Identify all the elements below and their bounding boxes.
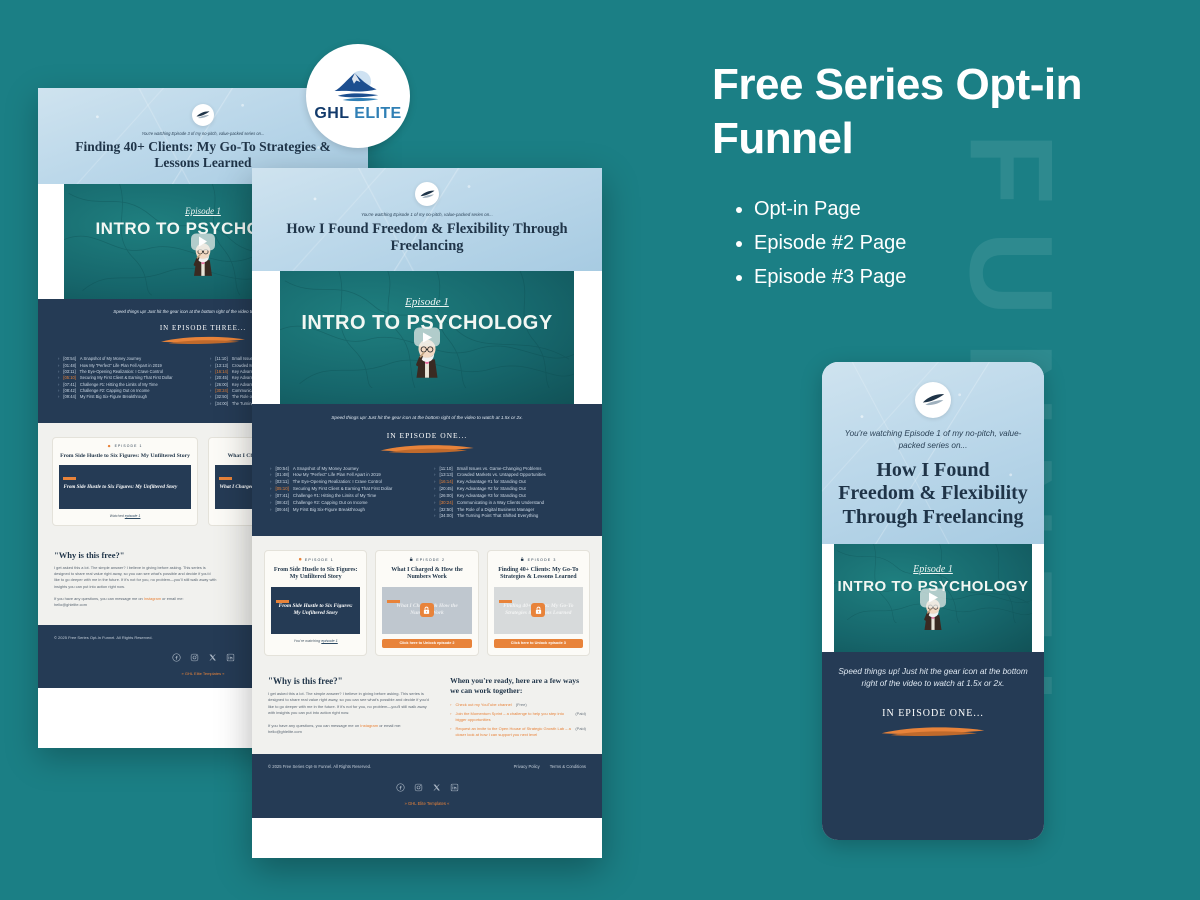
unlock-episode-button[interactable]: Click here to Unlock episode 2 <box>382 639 471 648</box>
front-cards-row: EPISODE 1From Side Hustle to Six Figures… <box>264 550 590 656</box>
chapter-label: Key Advantage #2 for Standing Out <box>457 486 526 493</box>
chevron-right-icon: › <box>450 726 451 738</box>
front-video-player[interactable]: Episode 1 INTRO TO PSYCHOLOGY <box>280 271 574 404</box>
linkedin-icon[interactable] <box>450 779 459 797</box>
phone-headline: How I Found Freedom & Flexibility Throug… <box>838 459 1028 530</box>
chevron-right-icon: › <box>434 472 435 479</box>
front-footer: © 2025 Free Series Opt-In Funnel. All Ri… <box>252 754 602 818</box>
phone-play-button[interactable] <box>920 588 946 607</box>
episode-badge: EPISODE 1 <box>59 444 192 449</box>
front-in-episode: IN EPISODE ONE... <box>270 431 584 440</box>
episode-badge-label: EPISODE 2 <box>416 558 445 562</box>
thumbnail-tag <box>276 600 289 603</box>
episode-card-thumbnail[interactable]: From Side Hustle to Six Figures: My Unfi… <box>271 587 360 634</box>
lock-icon <box>422 606 431 615</box>
chapter-timestamp: [34:00] <box>215 401 228 407</box>
episode-card-title: Finding 40+ Clients: My Go-To Strategies… <box>494 567 583 582</box>
front-cards-band: EPISODE 1From Side Hustle to Six Figures… <box>252 536 602 672</box>
front-chapter-item[interactable]: ›[03:11]The Eye-Opening Realization: I C… <box>270 479 420 486</box>
watch-status: Watched episode 1 <box>59 514 192 518</box>
chapter-timestamp: [09:44] <box>275 507 288 514</box>
front-chapter-item[interactable]: ›[30:24]Communicating in a Way Clients U… <box>434 500 584 507</box>
funnel-page-item-2: Episode #2 Page <box>754 227 1132 261</box>
chapter-label: How My "Perfect" Life Plan Fell Apart in… <box>293 472 381 479</box>
episode-badge-label: EPISODE 3 <box>528 558 557 562</box>
front-chapter-item[interactable]: ›[20:45]Key Advantage #2 for Standing Ou… <box>434 486 584 493</box>
chapter-timestamp: [05:10] <box>275 486 288 493</box>
chevron-right-icon: › <box>270 493 271 500</box>
swoosh-bird-icon <box>420 189 435 200</box>
front-why-body: I get asked this a lot. The simple answe… <box>268 691 434 717</box>
thumbnail-title: From Side Hustle to Six Figures: My Unfi… <box>63 484 177 491</box>
phone-video-player[interactable]: Episode 1 INTRO TO PSYCHOLOGY <box>834 544 1032 652</box>
watch-status-text: Watched <box>110 514 125 518</box>
episode-card-thumbnail[interactable]: What I Charged & How the Numbers Work <box>382 587 471 634</box>
chapter-label: Crowded Markets vs. Untapped Opportuniti… <box>457 472 546 479</box>
facebook-icon[interactable] <box>396 779 405 797</box>
phone-hero: You're watching Episode 1 of my no-pitch… <box>822 362 1044 544</box>
episode-badge-label: EPISODE 1 <box>305 558 334 562</box>
front-brand-avatar <box>415 182 439 206</box>
chapter-label: A Snapshot of My Money Journey <box>293 466 359 473</box>
back-headline: Finding 40+ Clients: My Go-To Strategies… <box>58 139 348 170</box>
watch-status-link[interactable]: episode 1 <box>125 514 141 518</box>
right-info-panel: Free Series Opt-in Funnel Opt-in PageEpi… <box>712 58 1132 294</box>
episode-badge: EPISODE 2 <box>382 557 471 562</box>
work-together-item[interactable]: ›Join the Momentum Sprint – a challenge … <box>450 711 586 723</box>
chapter-timestamp: [00:54] <box>275 466 288 473</box>
chevron-right-icon: › <box>270 479 271 486</box>
linkedin-icon[interactable] <box>226 649 235 667</box>
work-together-item[interactable]: ›Request an invite to the Open House of … <box>450 726 586 738</box>
chapter-timestamp: [03:11] <box>275 479 288 486</box>
x-twitter-icon[interactable] <box>432 779 441 797</box>
front-chapter-item[interactable]: ›[01:48]How My "Perfect" Life Plan Fell … <box>270 472 420 479</box>
front-social-row <box>268 779 586 797</box>
unlock-episode-button[interactable]: Click here to Unlock episode 3 <box>494 639 583 648</box>
chapter-label: The Eye-Opening Realization: I Crave Con… <box>293 479 382 486</box>
back-why-heading: "Why is this free?" <box>54 550 217 560</box>
back-chapter-col-left: ›[00:54]A Snapshot of My Money Journey›[… <box>58 356 196 407</box>
chevron-right-icon: › <box>434 466 435 473</box>
work-together-label: Request an invite to the Open House of S… <box>455 726 571 738</box>
front-ready-list: ›Check out my YouTube channel (Free)›Joi… <box>450 702 586 738</box>
episode-card-title: From Side Hustle to Six Figures: My Unfi… <box>271 567 360 582</box>
front-why-heading: "Why is this free?" <box>268 676 434 686</box>
swoosh-divider-icon <box>375 443 479 453</box>
episode-card-title: From Side Hustle to Six Figures: My Unfi… <box>59 453 192 460</box>
instagram-link[interactable]: Instagram <box>360 723 378 728</box>
front-video-episode-label: Episode 1 <box>405 296 449 308</box>
chapter-label: Communicating in a Way Clients Understan… <box>457 500 544 507</box>
facebook-icon[interactable] <box>172 649 181 667</box>
chapter-timestamp: [07:41] <box>275 493 288 500</box>
chevron-right-icon: › <box>270 500 271 507</box>
front-chapter-col-right: ›[11:10]Small Issues vs. Game-Changing P… <box>434 466 584 521</box>
logo-wordmark: GHL ELITE <box>314 105 401 123</box>
chapter-label: Securing My First Client & Earning That … <box>293 486 392 493</box>
chapter-label: Challenge #2: Capping Out on Income <box>293 500 368 507</box>
phone-eyebrow: You're watching Episode 1 of my no-pitch… <box>838 428 1028 452</box>
chevron-right-icon: › <box>434 513 435 520</box>
episode-card-thumbnail[interactable]: Finding 40+ Clients: My Go-To Strategies… <box>494 587 583 634</box>
front-play-button[interactable] <box>414 328 440 347</box>
chapter-label: My First Big Six-Figure Breakthrough <box>80 394 147 400</box>
front-chapter-item[interactable]: ›[11:10]Small Issues vs. Game-Changing P… <box>434 466 584 473</box>
lock-icon <box>531 603 545 617</box>
front-chapter-item[interactable]: ›[34:00]The Turning Point That Shifted E… <box>434 513 584 520</box>
logo-text-elite: ELITE <box>354 105 401 122</box>
front-chapter-item[interactable]: ›[08:42]Challenge #2: Capping Out on Inc… <box>270 500 420 507</box>
front-footer-copy: © 2025 Free Series Opt-In Funnel. All Ri… <box>268 764 371 769</box>
chapter-label: Small Issues vs. Game-Changing Problems <box>457 466 542 473</box>
chapter-timestamp: [30:24] <box>439 500 452 507</box>
swoosh-divider-icon <box>155 335 251 344</box>
phone-in-episode: IN EPISODE ONE... <box>836 708 1030 719</box>
episode-card-title: What I Charged & How the Numbers Work <box>382 567 471 582</box>
chevron-right-icon: › <box>270 472 271 479</box>
work-together-price-tag: (Paid) <box>575 726 586 738</box>
chapter-timestamp: [01:48] <box>275 472 288 479</box>
watch-status: You're watching episode 1 <box>271 639 360 643</box>
chevron-right-icon: › <box>270 486 271 493</box>
chapter-label: Challenge #1: Hitting the Limits of My T… <box>293 493 376 500</box>
work-together-label: Check out my YouTube channel <box>455 702 511 708</box>
front-why-contact-pre: If you have any questions, you can messa… <box>268 723 360 728</box>
back-why-body: I get asked this a lot. The simple answe… <box>54 565 217 590</box>
swoosh-divider-icon <box>874 725 992 736</box>
lock-icon <box>520 557 524 562</box>
chapter-label: The Turning Point That Shifted Everythin… <box>457 513 538 520</box>
chevron-right-icon: › <box>434 479 435 486</box>
work-together-label: Join the Momentum Sprint – a challenge t… <box>455 711 571 723</box>
front-dark-band: Speed things up! Just hit the gear icon … <box>252 404 602 537</box>
episode-card-thumbnail[interactable]: From Side Hustle to Six Figures: My Unfi… <box>59 465 192 510</box>
chapter-label: Key Advantage #1 for Standing Out <box>457 479 526 486</box>
chevron-right-icon: › <box>450 711 451 723</box>
chapter-timestamp: [11:10] <box>439 466 452 473</box>
front-chapter-item[interactable]: ›[07:41]Challenge #1: Hitting the Limits… <box>270 493 420 500</box>
back-why-contact: If you have any questions, you can messa… <box>54 596 217 609</box>
phone-video-episode-label: Episode 1 <box>913 564 953 575</box>
footer-link[interactable]: Terms & Conditions <box>550 764 586 769</box>
chevron-right-icon: › <box>450 702 451 708</box>
back-why-contact-pre: If you have any questions, you can messa… <box>54 596 144 601</box>
chapter-timestamp: [13:13] <box>439 472 452 479</box>
back-chapter-item[interactable]: ›[09:44]My First Big Six-Figure Breakthr… <box>58 394 196 400</box>
back-play-button[interactable] <box>191 233 215 250</box>
front-chapter-item[interactable]: ›[16:14]Key Advantage #1 for Standing Ou… <box>434 479 584 486</box>
ghl-elite-logo: GHL ELITE <box>306 44 410 148</box>
phone-speed-note: Speed things up! Just hit the gear icon … <box>836 666 1030 691</box>
work-together-price-tag: (Paid) <box>575 711 586 723</box>
front-episode-card[interactable]: EPISODE 1From Side Hustle to Six Figures… <box>264 550 367 656</box>
mountain-icon <box>329 70 387 104</box>
front-chapter-item[interactable]: ›[26:00]Key Advantage #3 for Standing Ou… <box>434 493 584 500</box>
chapter-timestamp: [20:45] <box>439 486 452 493</box>
episode-badge: EPISODE 1 <box>271 557 360 562</box>
front-chapter-item[interactable]: ›[13:13]Crowded Markets vs. Untapped Opp… <box>434 472 584 479</box>
work-together-price-tag: (Free) <box>516 702 527 708</box>
front-episode-card[interactable]: EPISODE 3Finding 40+ Clients: My Go-To S… <box>487 550 590 656</box>
front-headline: How I Found Freedom & Flexibility Throug… <box>274 221 580 255</box>
instagram-link[interactable]: Instagram <box>144 596 161 601</box>
thumbnail-tag <box>387 600 400 603</box>
front-chapter-item[interactable]: ›[09:44]My First Big Six-Figure Breakthr… <box>270 507 420 514</box>
chapter-timestamp: [26:00] <box>439 493 452 500</box>
lock-icon <box>534 606 543 615</box>
chapter-label: Key Advantage #3 for Standing Out <box>457 493 526 500</box>
chapter-timestamp: [32:50] <box>439 507 452 514</box>
chevron-right-icon: › <box>434 493 435 500</box>
funnel-page-item-3: Episode #3 Page <box>754 261 1132 295</box>
phone-dark-band: Speed things up! Just hit the gear icon … <box>822 652 1044 840</box>
instagram-icon[interactable] <box>190 649 199 667</box>
thumbnail-tag <box>219 477 231 480</box>
mockup-optin-page: You're watching Episode 1 of my no-pitch… <box>252 168 602 858</box>
lock-icon <box>409 557 413 562</box>
back-video-episode-label: Episode 1 <box>185 206 221 216</box>
episode-badge-label: EPISODE 1 <box>115 444 143 448</box>
page-title: Free Series Opt-in Funnel <box>712 58 1132 165</box>
unlocked-dot-icon <box>107 444 111 449</box>
chapter-timestamp: [09:44] <box>63 394 76 400</box>
front-chapter-list: ›[00:54]A Snapshot of My Money Journey›[… <box>270 466 584 521</box>
thumbnail-tag <box>63 477 75 480</box>
chevron-right-icon: › <box>58 394 59 400</box>
back-episode-card[interactable]: EPISODE 1From Side Hustle to Six Figures… <box>52 437 198 526</box>
front-episode-card[interactable]: EPISODE 2What I Charged & How the Number… <box>375 550 478 656</box>
swoosh-bird-icon <box>196 110 210 120</box>
mockup-mobile-optin-page: You're watching Episode 1 of my no-pitch… <box>822 362 1044 840</box>
chevron-right-icon: › <box>434 507 435 514</box>
front-eyebrow: You're watching Episode 1 of my no-pitch… <box>274 212 580 217</box>
chevron-right-icon: › <box>210 401 211 407</box>
front-ready-heading: When you're ready, here are a few ways w… <box>450 676 586 696</box>
instagram-icon[interactable] <box>414 779 423 797</box>
watch-status-link[interactable]: episode 1 <box>321 639 337 643</box>
front-chapter-item[interactable]: ›[05:10]Securing My First Client & Earni… <box>270 486 420 493</box>
back-eyebrow: You're watching Episode 3 of my no-pitch… <box>58 131 348 136</box>
front-why-band: "Why is this free?" I get asked this a l… <box>252 672 602 754</box>
front-footer-links: Privacy PolicyTerms & Conditions <box>514 764 586 769</box>
watch-status-text: You're watching <box>294 639 322 643</box>
front-chapter-item[interactable]: ›[00:54]A Snapshot of My Money Journey <box>270 466 420 473</box>
chevron-right-icon: › <box>434 486 435 493</box>
episode-badge: EPISODE 3 <box>494 557 583 562</box>
chevron-right-icon: › <box>270 507 271 514</box>
front-hero: You're watching Episode 1 of my no-pitch… <box>252 168 602 271</box>
chapter-timestamp: [08:42] <box>275 500 288 507</box>
chapter-label: The Role of a Digital Business Manager <box>457 507 534 514</box>
funnel-page-item-1: Opt-in Page <box>754 193 1132 227</box>
lock-icon <box>420 603 434 617</box>
chevron-right-icon: › <box>270 466 271 473</box>
chapter-timestamp: [16:14] <box>439 479 452 486</box>
unlocked-dot-icon <box>298 557 302 562</box>
front-speed-note: Speed things up! Just hit the gear icon … <box>270 415 584 420</box>
thumbnail-title: From Side Hustle to Six Figures: My Unfi… <box>276 603 355 617</box>
work-together-item[interactable]: ›Check out my YouTube channel (Free) <box>450 702 586 708</box>
front-chapter-item[interactable]: ›[32:50]The Role of a Digital Business M… <box>434 507 584 514</box>
front-footer-ghl[interactable]: » GHL Elite Templates « <box>268 801 586 806</box>
phone-brand-avatar <box>915 382 951 418</box>
back-brand-avatar <box>192 104 214 126</box>
footer-link[interactable]: Privacy Policy <box>514 764 540 769</box>
x-twitter-icon[interactable] <box>208 649 217 667</box>
logo-text-ghl: GHL <box>314 105 349 122</box>
front-why-contact: If you have any questions, you can messa… <box>268 723 434 736</box>
swoosh-bird-icon <box>922 392 945 408</box>
thumbnail-tag <box>499 600 512 603</box>
chapter-timestamp: [34:00] <box>439 513 452 520</box>
funnel-page-list: Opt-in PageEpisode #2 PageEpisode #3 Pag… <box>754 193 1132 294</box>
front-chapter-col-left: ›[00:54]A Snapshot of My Money Journey›[… <box>270 466 420 521</box>
chapter-label: My First Big Six-Figure Breakthrough <box>293 507 365 514</box>
chevron-right-icon: › <box>434 500 435 507</box>
